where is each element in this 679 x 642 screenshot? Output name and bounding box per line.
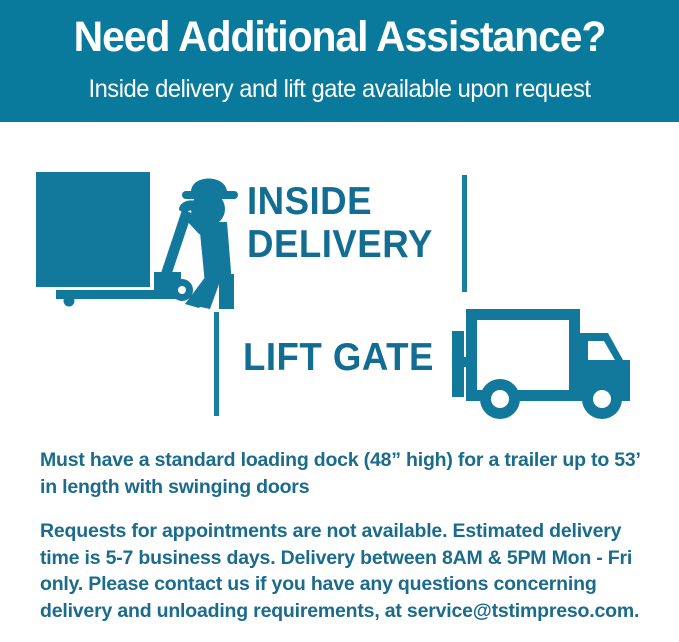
assistance-infographic: Need Additional Assistance? Inside deliv… (0, 0, 679, 642)
feature-row-inside-delivery: INSIDE DELIVERY (0, 150, 679, 305)
loading-dock-requirements-text: Must have a standard loading dock (48” h… (40, 447, 640, 500)
worker-pallet-jack-icon (36, 164, 241, 314)
feature-label-line-1: INSIDE (247, 180, 433, 223)
delivery-details-text: Requests for appointments are not availa… (40, 518, 640, 624)
header-subtitle: Inside delivery and lift gate available … (17, 74, 662, 104)
feature-row-lift-gate: LIFT GATE (0, 300, 679, 425)
page-title: Need Additional Assistance? (17, 12, 662, 62)
header-banner: Need Additional Assistance? Inside deliv… (0, 0, 679, 122)
feature-label-lift-gate: LIFT GATE (243, 336, 434, 379)
vertical-divider-inside (462, 175, 467, 292)
feature-label-inside-delivery: INSIDE DELIVERY (247, 180, 433, 266)
box-truck-lift-gate-icon (452, 305, 642, 425)
feature-label-line-2: DELIVERY (247, 223, 433, 266)
vertical-divider-lift (214, 312, 219, 416)
